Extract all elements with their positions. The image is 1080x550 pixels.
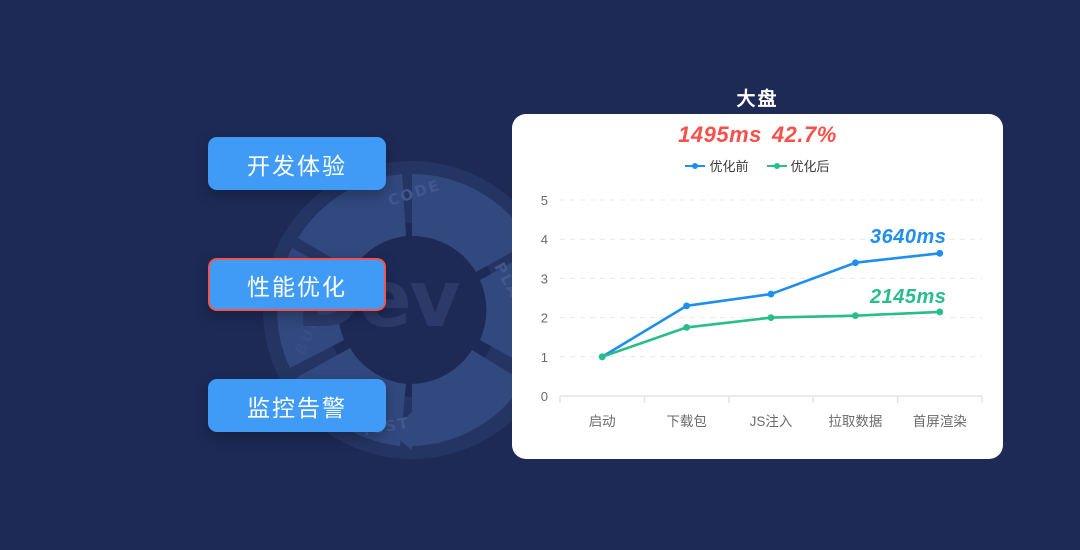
- data-point[interactable]: [683, 324, 690, 331]
- svg-text:CODE: CODE: [386, 176, 443, 210]
- data-point[interactable]: [768, 314, 775, 321]
- nav-list: 开发体验 性能优化 监控告警: [208, 137, 386, 432]
- series-end-label-before: 3640ms: [870, 226, 946, 249]
- chart-title: 大盘: [512, 84, 1003, 111]
- data-point[interactable]: [936, 250, 943, 257]
- data-point[interactable]: [599, 353, 606, 360]
- chart-card: 1495ms42.7% 优化前 优化后 012345启动下载包JS注入拉取数据首…: [512, 114, 1003, 459]
- y-axis-tick-label: 1: [541, 350, 548, 365]
- x-axis-tick-label: 首屏渲染: [913, 414, 967, 429]
- y-axis-tick-label: 4: [541, 232, 548, 247]
- data-point[interactable]: [768, 291, 775, 298]
- stat-delta-percent: 42.7%: [772, 122, 837, 147]
- data-point[interactable]: [852, 312, 859, 319]
- legend-label: 优化前: [709, 156, 748, 175]
- x-axis-tick-label: JS注入: [750, 414, 793, 429]
- x-axis-tick-label: 下载包: [666, 414, 707, 429]
- nav-item-monitoring-alerts[interactable]: 监控告警: [208, 379, 386, 432]
- nav-spacer: [208, 190, 386, 258]
- legend-item-before[interactable]: 优化前: [685, 156, 748, 175]
- nav-item-label: 开发体验: [247, 147, 347, 181]
- nav-spacer: [208, 311, 386, 379]
- y-axis-tick-label: 5: [541, 193, 548, 208]
- stat-delta-ms: 1495ms: [678, 122, 762, 147]
- data-point[interactable]: [936, 309, 943, 316]
- x-axis-tick-label: 启动: [589, 414, 616, 429]
- nav-item-label: 性能优化: [247, 268, 347, 302]
- x-axis-tick-label: 拉取数据: [828, 414, 882, 429]
- y-axis-tick-label: 2: [541, 311, 548, 326]
- y-axis-tick-label: 3: [541, 271, 548, 286]
- legend-item-after[interactable]: 优化后: [767, 156, 830, 175]
- series-end-label-after: 2145ms: [870, 286, 946, 309]
- data-point[interactable]: [683, 302, 690, 309]
- legend-label: 优化后: [791, 156, 830, 175]
- legend-line-icon: [685, 161, 705, 171]
- summary-stats: 1495ms42.7%: [512, 122, 1003, 148]
- chart-legend: 优化前 优化后: [512, 156, 1003, 175]
- data-point[interactable]: [852, 259, 859, 266]
- nav-item-label: 监控告警: [247, 389, 347, 423]
- y-axis-tick-label: 0: [541, 389, 548, 404]
- nav-item-dev-experience[interactable]: 开发体验: [208, 137, 386, 190]
- nav-item-performance-optimization[interactable]: 性能优化: [208, 258, 386, 311]
- legend-line-icon: [767, 161, 787, 171]
